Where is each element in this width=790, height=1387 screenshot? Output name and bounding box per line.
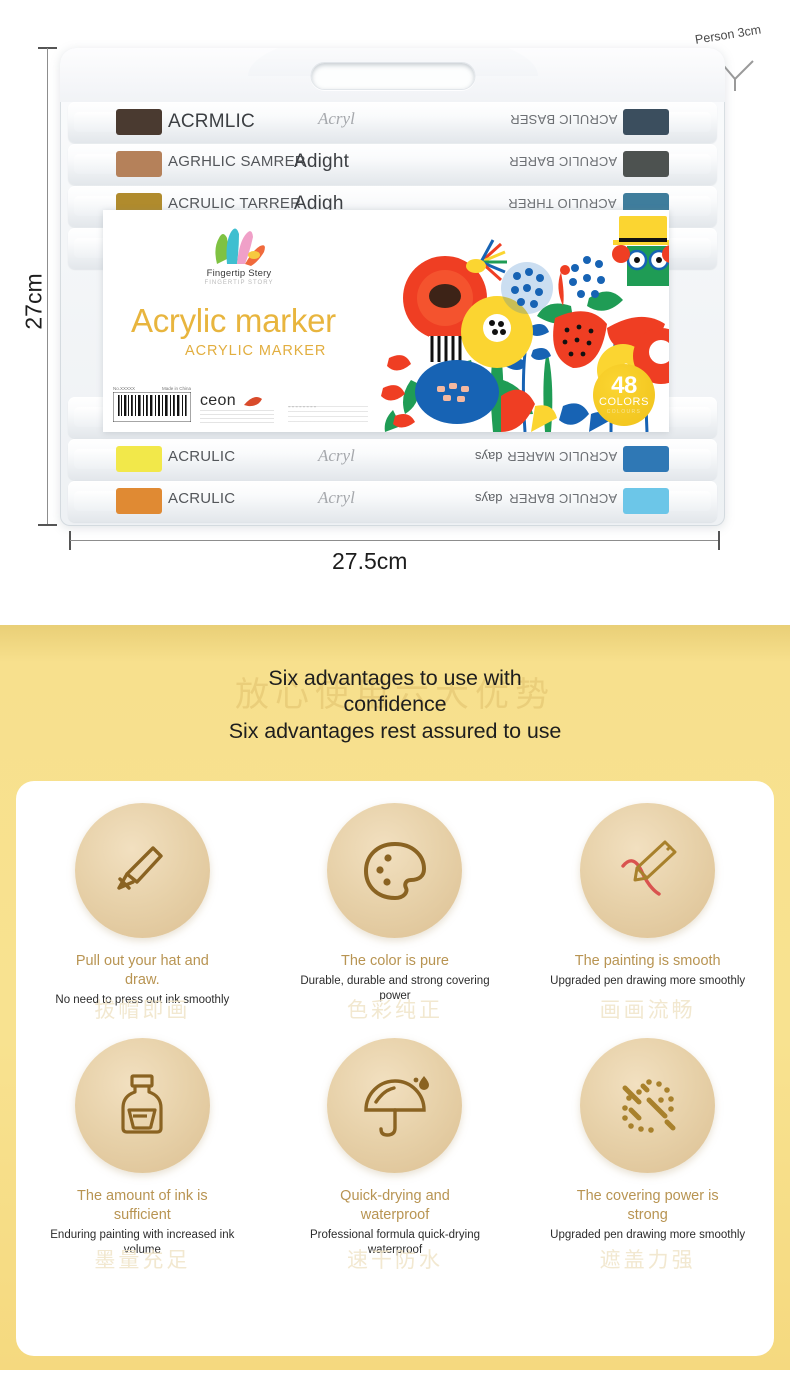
label-fineprint-left xyxy=(200,410,274,423)
advantage-title-2: The color is pure xyxy=(341,952,449,971)
marker-label-left-overlay: Adight xyxy=(294,151,349,173)
marker-barrel-left xyxy=(74,449,118,469)
marker-row: AGRHLIC SAMRERAdightACRULIC BARER xyxy=(68,144,717,185)
advantage-card-4: The amount of ink is sufficient Enduring… xyxy=(16,1038,269,1258)
advantages-section: 放心使用六大优势 Six advantages to use with conf… xyxy=(0,625,790,1370)
advantage-card-5: Quick-drying and waterproof Professional… xyxy=(269,1038,522,1258)
case-handle xyxy=(310,62,475,90)
coverage-pattern-icon xyxy=(609,1066,687,1144)
badge-word: COLORS xyxy=(599,397,649,408)
marker-script-logo: Acryl xyxy=(318,446,355,466)
marker-label-right: ACRULIC BARER xyxy=(509,154,617,169)
marker-cap-left xyxy=(116,446,162,472)
badge-sub: COLOURS xyxy=(607,409,642,415)
advantages-heading: Six advantages to use with confidence Si… xyxy=(0,665,790,745)
marker-cap-left xyxy=(116,488,162,514)
marker-script-logo: Acryl xyxy=(318,109,355,129)
brand-logo-subtext: FINGERTIP STORY xyxy=(179,280,299,286)
package-front-label: 48 COLORS COLOURS Fingertip Stery FINGER… xyxy=(103,210,669,432)
advantage-watermark-6: 遮盖力强 xyxy=(600,1244,696,1274)
marker-barrel-right xyxy=(667,449,711,469)
advantage-card-6: The covering power is strong Upgraded pe… xyxy=(521,1038,774,1258)
marker-cap-left xyxy=(116,109,162,135)
advantage-icon-circle-6 xyxy=(580,1038,715,1173)
marker-row: ACRULICAcrylACRULIC MARERdays xyxy=(68,439,717,480)
marker-row: ACRMLICAcrylACRULIC BASER xyxy=(68,102,717,143)
badge-count: 48 xyxy=(611,375,637,398)
advantage-title-4: The amount of ink is sufficient xyxy=(57,1187,227,1225)
label-fineprint-right xyxy=(288,406,368,422)
marker-barrel-right xyxy=(667,238,711,258)
marker-barrel-right xyxy=(667,196,711,216)
fingertip-hand-logo-icon xyxy=(207,224,265,266)
marker-barrel-right xyxy=(667,112,711,132)
product-title: Acrylic marker xyxy=(131,302,336,340)
advantage-watermark-5: 速干防水 xyxy=(347,1244,443,1274)
marker-days-label: days xyxy=(475,449,502,464)
advantage-icon-circle-5 xyxy=(327,1038,462,1173)
brand-logo-text: Fingertip Stery xyxy=(179,268,299,279)
manufacturer-brand: ceon xyxy=(200,392,236,410)
advantage-desc-3: Upgraded pen drawing more smoothly xyxy=(550,974,745,989)
advantage-card-3: The painting is smooth Upgraded pen draw… xyxy=(521,803,774,1008)
advantage-icon-circle-4 xyxy=(75,1038,210,1173)
marker-cap-icon xyxy=(103,832,181,910)
marker-days-label: days xyxy=(475,491,502,506)
marker-cap-left xyxy=(116,151,162,177)
height-dimension-cap-bottom xyxy=(38,524,57,526)
product-photo-section: 27cm 27.5cm Person 3cm ACRMLICAcrylACRUL… xyxy=(0,0,790,625)
floral-artwork: 48 COLORS COLOURS xyxy=(375,210,669,432)
advantage-watermark-1: 拔帽即画 xyxy=(94,994,190,1024)
marker-barrel-right xyxy=(667,154,711,174)
brand-swirl-icon xyxy=(242,393,264,409)
advantage-icon-circle-3 xyxy=(580,803,715,938)
barcode-icon xyxy=(113,392,191,422)
advantages-card-panel: Pull out your hat and draw. No need to p… xyxy=(16,781,774,1356)
palette-icon xyxy=(356,832,434,910)
marker-cap-right xyxy=(623,488,669,514)
marker-label-left: ACRULIC xyxy=(168,448,235,465)
advantage-watermark-2: 色彩纯正 xyxy=(347,994,443,1024)
marker-label-right: ACRULIC BASER xyxy=(510,112,617,127)
width-dimension-cap-right xyxy=(718,531,720,550)
color-count-badge: 48 COLORS COLOURS xyxy=(593,364,655,426)
marker-label-right: ACRULIC MARER xyxy=(507,449,617,464)
marker-barrel-right xyxy=(667,491,711,511)
marker-cap-right xyxy=(623,446,669,472)
marker-barrel-right xyxy=(667,407,711,427)
advantages-heading-line2: Six advantages rest assured to use xyxy=(0,718,790,745)
ink-bottle-icon xyxy=(103,1066,181,1144)
advantage-watermark-4: 墨量充足 xyxy=(94,1244,190,1274)
width-dimension-label: 27.5cm xyxy=(332,548,407,575)
marker-barrel-left xyxy=(74,112,118,132)
marker-cap-right xyxy=(623,151,669,177)
marker-cap-right xyxy=(623,109,669,135)
umbrella-icon xyxy=(356,1066,434,1144)
advantage-title-1: Pull out your hat and draw. xyxy=(57,952,227,990)
marker-script-logo: Acryl xyxy=(318,488,355,508)
height-dimension-label: 27cm xyxy=(21,262,48,342)
depth-dimension-label: Person 3cm xyxy=(694,23,762,47)
product-detail-page: 27cm 27.5cm Person 3cm ACRMLICAcrylACRUL… xyxy=(0,0,790,1387)
marker-label-left: AGRHLIC SAMRER xyxy=(168,153,306,170)
advantage-desc-6: Upgraded pen drawing more smoothly xyxy=(550,1228,745,1243)
advantages-grid: Pull out your hat and draw. No need to p… xyxy=(16,803,774,1258)
marker-label-right: ACRULIO THRER xyxy=(508,196,617,211)
advantage-title-5: Quick-drying and waterproof xyxy=(310,1187,480,1225)
advantage-card-1: Pull out your hat and draw. No need to p… xyxy=(16,803,269,1008)
advantage-title-6: The covering power is strong xyxy=(563,1187,733,1225)
marker-label-right: ACRULIC BARER xyxy=(509,491,617,506)
marker-barrel-left xyxy=(74,491,118,511)
label-text-area: Fingertip Stery FINGERTIP STORY Acrylic … xyxy=(103,210,375,432)
advantages-heading-line1: Six advantages to use with confidence xyxy=(245,665,545,717)
case-lid xyxy=(60,48,725,102)
width-dimension-line xyxy=(70,540,720,541)
advantage-title-3: The painting is smooth xyxy=(575,952,721,971)
advantage-icon-circle-2 xyxy=(327,803,462,938)
marker-label-left: ACRULIC xyxy=(168,490,235,507)
pencil-stroke-icon xyxy=(609,832,687,910)
marker-row: ACRULICAcrylACRULIC BARERdays xyxy=(68,481,717,522)
product-subtitle: ACRYLIC MARKER xyxy=(185,343,326,359)
page-bottom-strip xyxy=(0,1370,790,1387)
advantage-watermark-3: 画画流畅 xyxy=(600,994,696,1024)
marker-label-left: ACRMLIC xyxy=(168,111,255,133)
marker-barrel-left xyxy=(74,154,118,174)
advantage-icon-circle-1 xyxy=(75,803,210,938)
advantage-card-2: The color is pure Durable, durable and s… xyxy=(269,803,522,1008)
